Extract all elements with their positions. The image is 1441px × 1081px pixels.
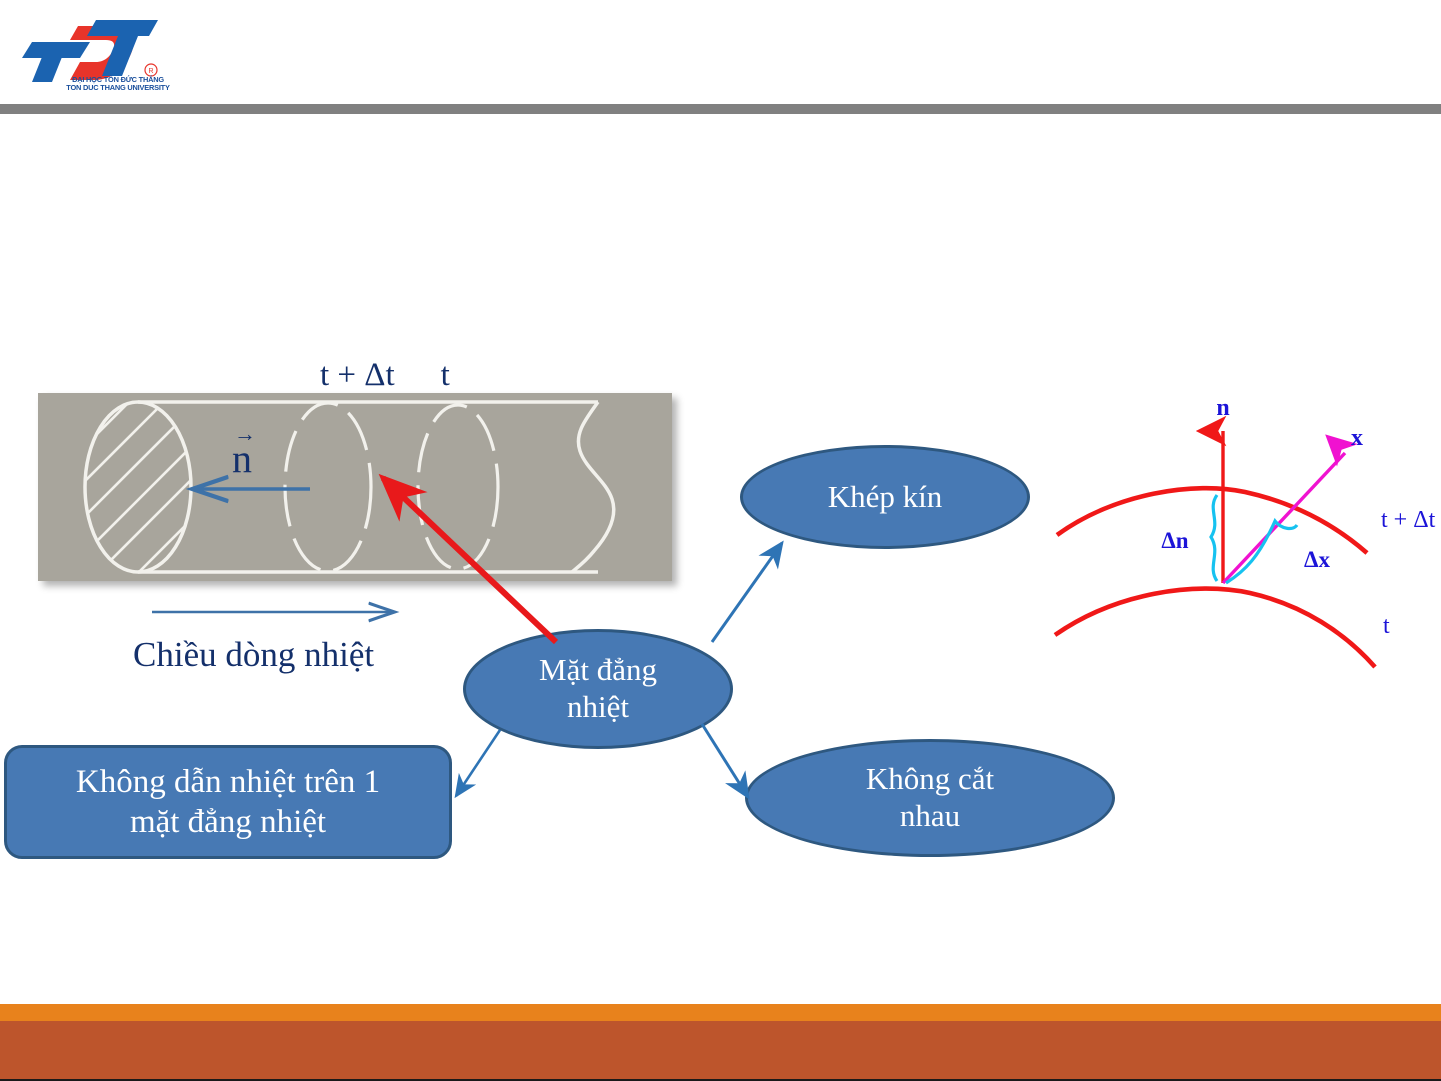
isotherm-curve-upper xyxy=(1057,488,1367,553)
connector-center-to-khong-cat-nhau xyxy=(702,724,748,797)
isotherm-label-x: x xyxy=(1351,425,1363,451)
isotherm-label-delta-n: Δn xyxy=(1161,528,1188,553)
svg-text:R: R xyxy=(148,68,153,75)
label-t: t xyxy=(441,357,450,393)
node-mat-dang-nhiet[interactable]: Mặt đẳng nhiệt xyxy=(463,629,733,749)
node-khep-kin[interactable]: Khép kín xyxy=(740,445,1030,549)
delta-n-brace xyxy=(1211,495,1217,581)
cylinder-figure-panel xyxy=(38,393,672,581)
node-khep-kin-label: Khép kín xyxy=(828,479,943,516)
connector-center-to-khong-dan-nhiet xyxy=(456,730,500,796)
logo-caption-en: TON DUC THANG UNIVERSITY xyxy=(58,84,178,92)
label-t-plus-delta-t: t + Δt xyxy=(320,357,395,393)
heat-flow-direction-label: Chiều dòng nhiệt xyxy=(133,635,374,675)
slide-canvas: R ĐẠI HỌC TÔN ĐỨC THẮNG TON DUC THANG UN… xyxy=(0,0,1441,1081)
node-khong-dan-nhiet[interactable]: Không dẫn nhiệt trên 1 mặt đẳng nhiệt xyxy=(4,745,452,859)
normal-vector-symbol: → n xyxy=(232,428,256,479)
normal-vector-letter: n xyxy=(232,436,252,481)
logo-caption: ĐẠI HỌC TÔN ĐỨC THẮNG TON DUC THANG UNIV… xyxy=(58,76,178,91)
cylinder-temperature-labels: t + Δtt xyxy=(320,357,450,394)
footer-band xyxy=(0,1021,1441,1079)
node-khong-dan-nhiet-label: Không dẫn nhiệt trên 1 mặt đẳng nhiệt xyxy=(76,762,380,843)
footer-accent-strip xyxy=(0,1004,1441,1021)
delta-x-brace xyxy=(1226,521,1297,583)
node-khong-cat-nhau-label: Không cắt nhau xyxy=(866,761,994,834)
cylinder-contours xyxy=(38,393,672,581)
isotherm-curve-lower xyxy=(1055,589,1375,667)
isotherm-label-delta-x: Δx xyxy=(1304,547,1330,572)
header-divider-rule xyxy=(0,104,1441,114)
node-center-label: Mặt đẳng nhiệt xyxy=(539,652,657,725)
node-khong-cat-nhau[interactable]: Không cắt nhau xyxy=(745,739,1115,857)
tdt-university-logo: R ĐẠI HỌC TÔN ĐỨC THẮNG TON DUC THANG UN… xyxy=(18,14,168,96)
isotherm-label-t-plus-delta-t: t + Δt xyxy=(1381,507,1436,533)
isotherm-label-t: t xyxy=(1383,613,1390,639)
isotherm-label-n: n xyxy=(1216,395,1229,421)
header-band: R ĐẠI HỌC TÔN ĐỨC THẮNG TON DUC THANG UN… xyxy=(0,0,1441,104)
connector-center-to-khep-kin xyxy=(712,543,782,642)
isotherm-gradient-figure: n x Δn Δx t + Δt t xyxy=(1045,385,1441,675)
